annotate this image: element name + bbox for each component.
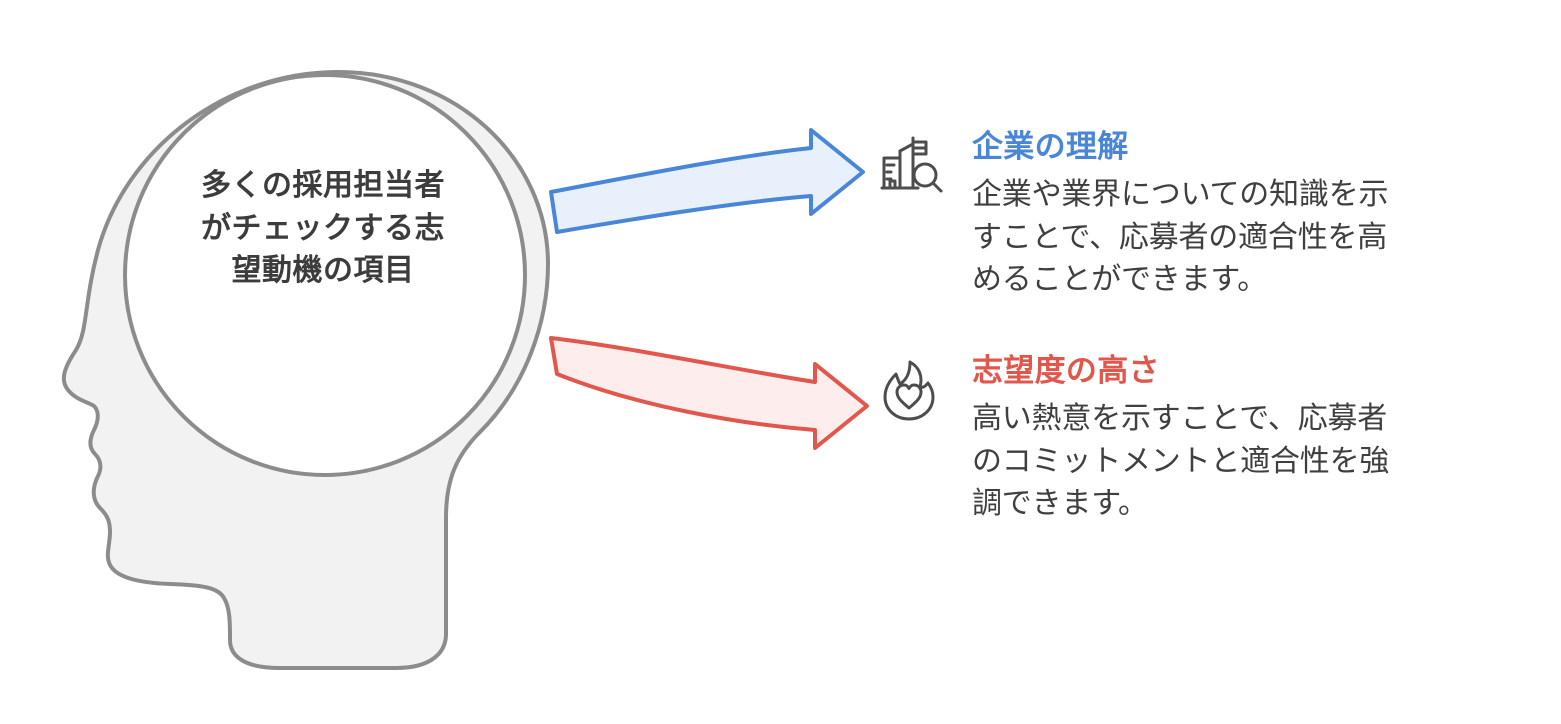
item-body: 高い熱意を示すことで、応募者のコミットメントと適合性を強調できます。 xyxy=(972,398,1404,526)
brain-circle xyxy=(125,75,525,475)
item-text-block: 企業の理解 企業や業界についての知識を示すことで、応募者の適合性を高めることがで… xyxy=(972,128,1404,302)
item-heading: 志望度の高さ xyxy=(972,352,1404,389)
item-heading: 企業の理解 xyxy=(972,128,1404,165)
diagram-canvas: 多くの採用担当者がチェックする志望動機の項目 xyxy=(0,0,1561,724)
arrow-to-company-understanding xyxy=(551,130,863,232)
item-motivation-level: 志望度の高さ 高い熱意を示すことで、応募者のコミットメントと適合性を強調できます… xyxy=(880,352,1404,526)
item-company-understanding: 企業の理解 企業や業界についての知識を示すことで、応募者の適合性を高めることがで… xyxy=(880,128,1404,302)
arrows-group xyxy=(535,120,880,450)
item-body: 企業や業界についての知識を示すことで、応募者の適合性を高めることができます。 xyxy=(972,174,1404,302)
item-text-block: 志望度の高さ 高い熱意を示すことで、応募者のコミットメントと適合性を強調できます… xyxy=(972,352,1404,526)
flame-heart-icon xyxy=(880,352,944,422)
arrow-to-motivation-level xyxy=(551,338,867,448)
head-illustration: 多くの採用担当者がチェックする志望動機の項目 xyxy=(40,50,580,670)
building-search-icon xyxy=(880,128,944,198)
